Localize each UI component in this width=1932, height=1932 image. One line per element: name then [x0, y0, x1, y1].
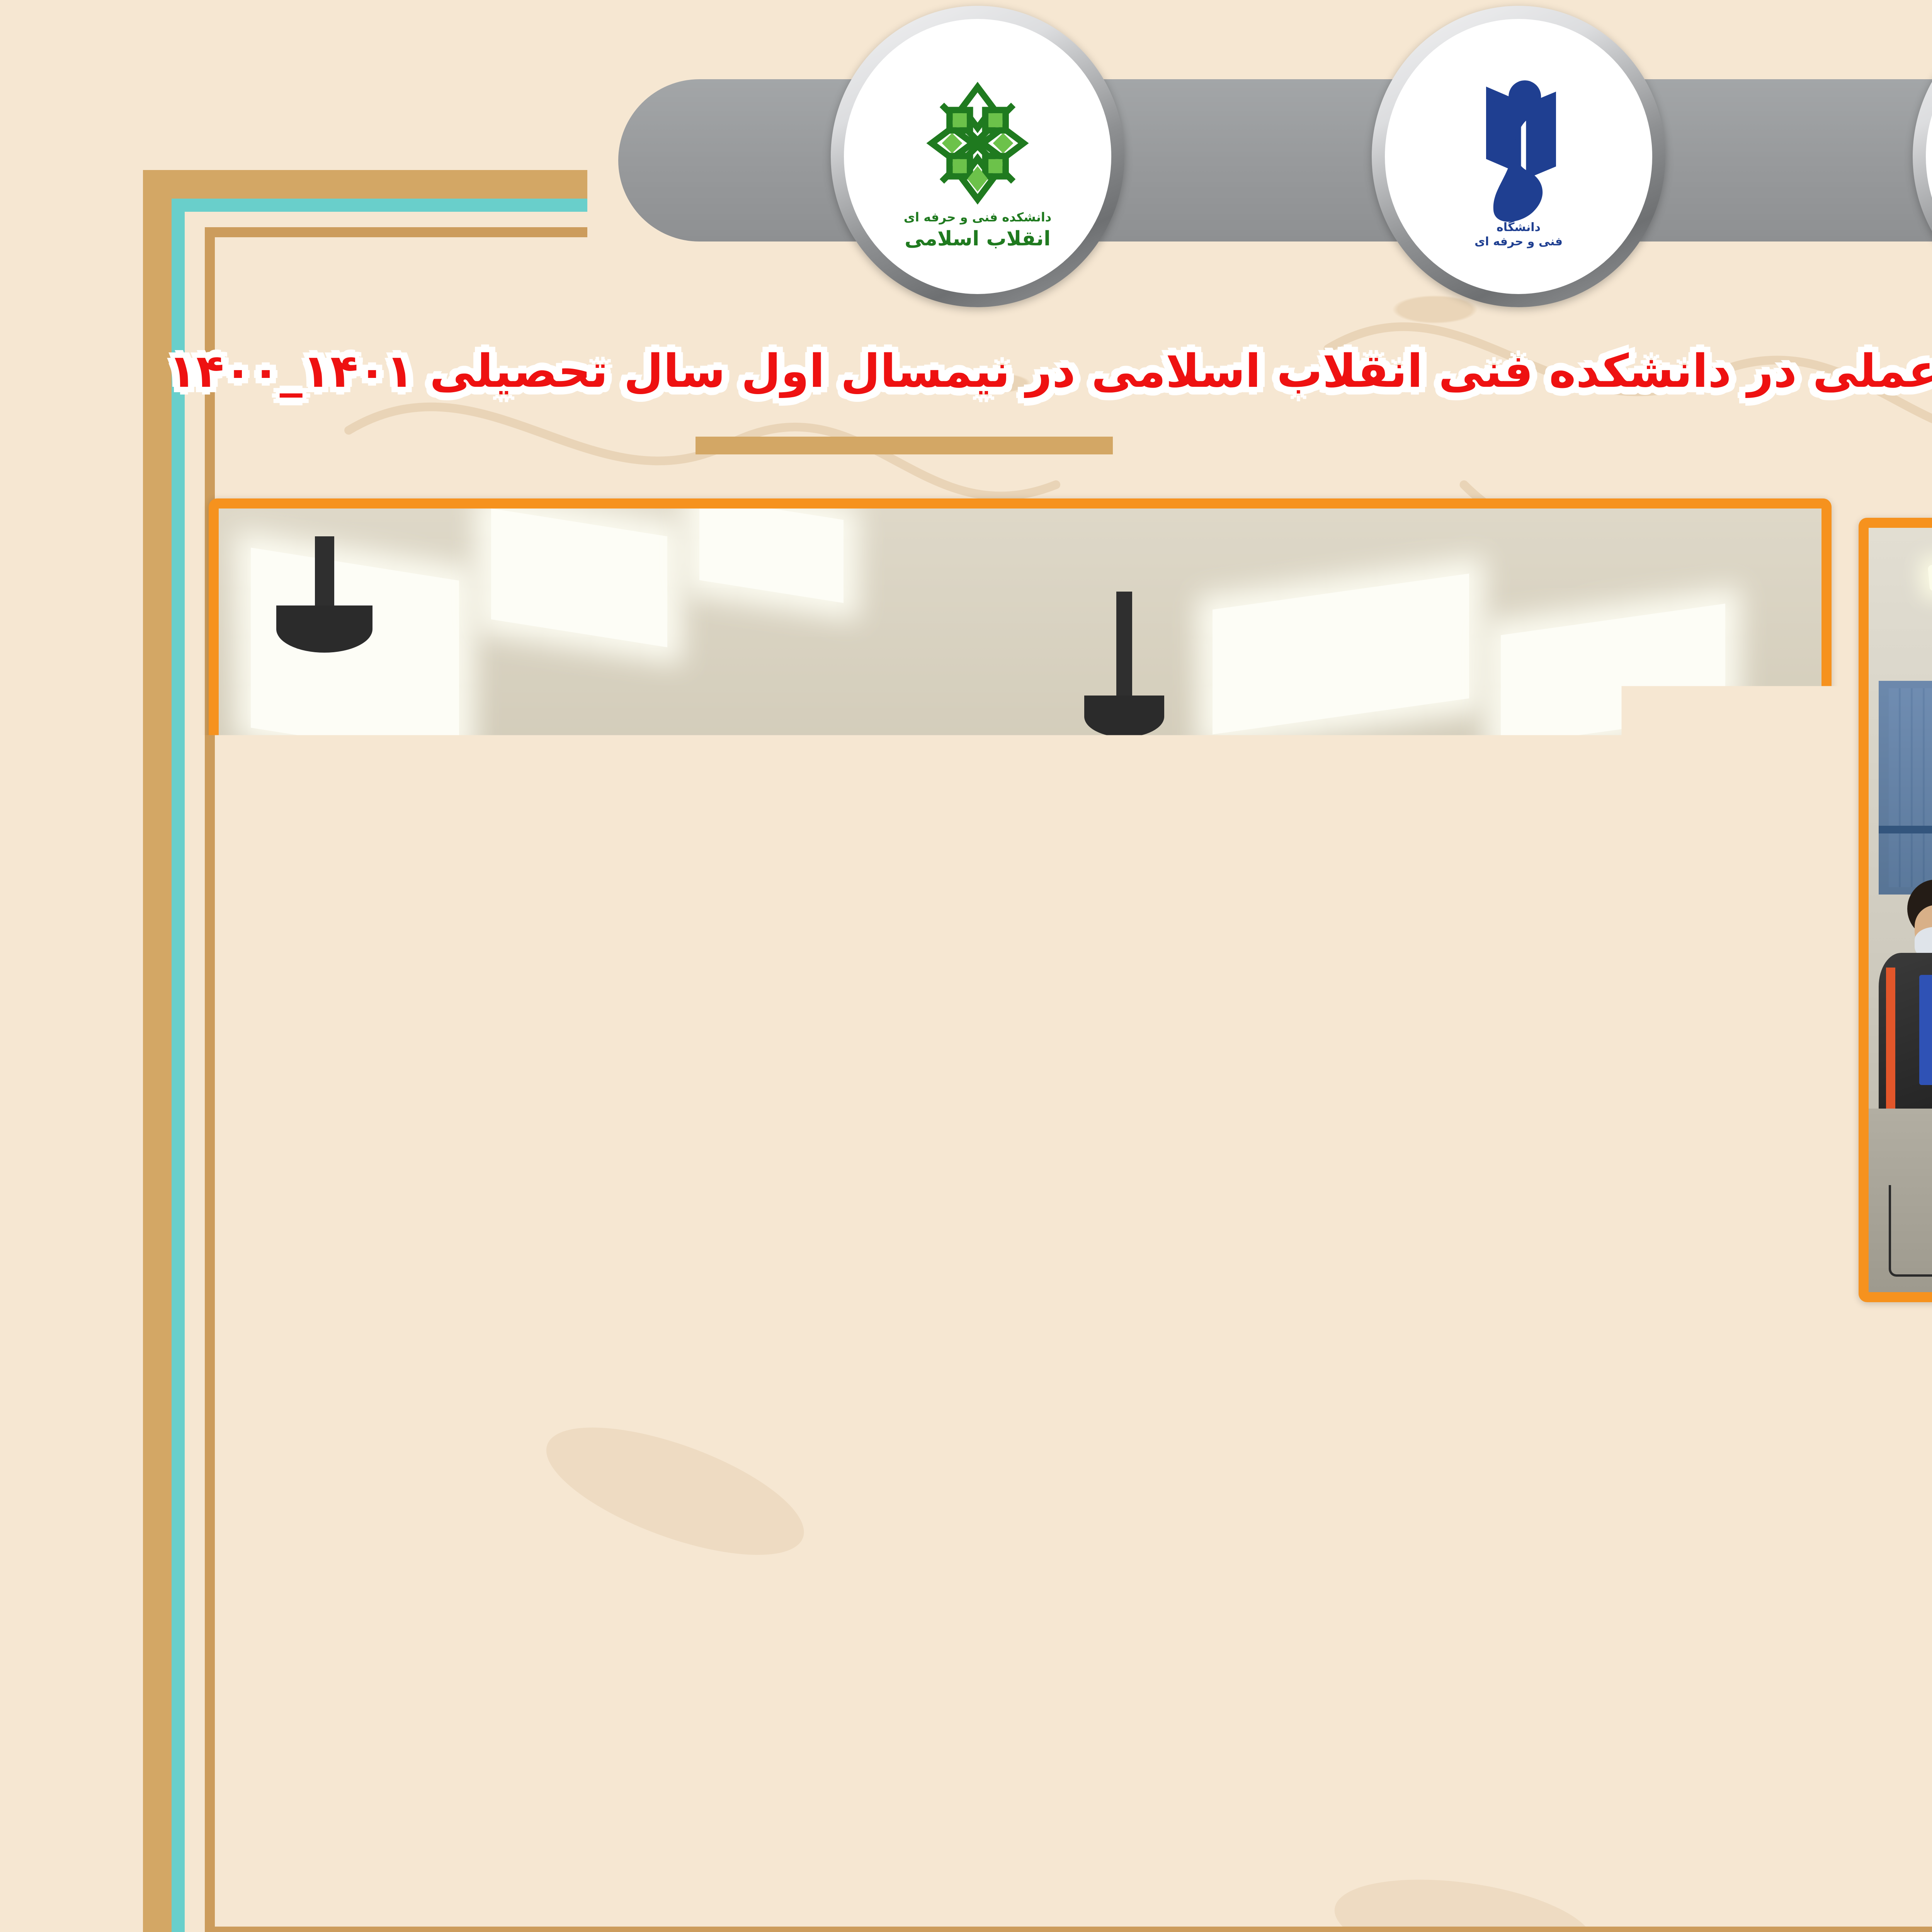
- frame-edge-right-teal: [1747, 410, 1760, 1754]
- lecture-desk-shelf: [1464, 1735, 1558, 1752]
- lecture-instructor: [1506, 1499, 1583, 1724]
- poster-canvas: دانشکده فنی و حرفه ای انقلاب اسلامی دانش…: [0, 0, 1932, 1932]
- student-hoodie: [910, 925, 1020, 1090]
- student-scarf: [964, 1607, 978, 1655]
- workshop-door: [230, 980, 438, 1230]
- lab-curtain: [1139, 673, 1219, 895]
- lecture-classroom-scene: [852, 1335, 1702, 1899]
- lab-classroom-scene: [709, 528, 1709, 1292]
- lab-stool: [1250, 971, 1310, 986]
- logo-vezarat-oloom: جمهوری اسلامی ایران وزارت علوم، تحقیقات …: [753, 6, 1047, 307]
- photo-workshop: KAWA: [0, 498, 672, 1905]
- workshop-wall-panel: [117, 924, 230, 1077]
- lecture-bag: [1456, 1606, 1515, 1628]
- workshop-scene: KAWA: [0, 509, 662, 1895]
- lecture-desk-tablet: [1447, 1707, 1541, 1727]
- frame-edge-bottom-inner: [0, 1927, 1349, 1932]
- workshop-wood-block: [37, 1243, 101, 1271]
- reading-figure-emblem-icon: [296, 64, 423, 226]
- lab-curtain-rod: [719, 826, 1379, 833]
- student-jacket: [946, 1604, 1029, 1732]
- lecture-red-jacket: [1328, 1645, 1405, 1724]
- lecture-desk-tablet: [1223, 1743, 1277, 1759]
- student-jacket-stripe: [727, 968, 736, 1114]
- instructor-hand: [1553, 823, 1567, 857]
- lab-curtain: [719, 681, 789, 895]
- workshop-bench-panel: [0, 1514, 470, 1721]
- iran-allah-emblem-icon: [844, 86, 956, 202]
- student-shirt: [760, 975, 801, 1085]
- logo-2-line2: فنی و حرفه ای: [315, 235, 403, 249]
- student-jacket: [1158, 1579, 1222, 1683]
- page-title: بازگشایی و آغاز تدریس حضوری کلاس های عمل…: [0, 344, 1764, 398]
- workshop-student-tan-coverall: [0, 938, 37, 1465]
- lab-stand-rod: [1174, 918, 1179, 986]
- lecture-projector: [1175, 1386, 1243, 1414]
- lecture-desk-tablet: [1430, 1662, 1515, 1682]
- logo-3-line2: وزارت علوم، تحقیقات و فناوری: [824, 223, 976, 237]
- student-jacket: [1031, 1595, 1105, 1713]
- title-container: بازگشایی و آغاز تدریس حضوری کلاس های عمل…: [0, 321, 1747, 421]
- lab-stool-legs: [730, 1185, 830, 1277]
- lab-tissue-box: [1189, 983, 1239, 1013]
- lecture-wall-conduit: [852, 1364, 1702, 1370]
- student-shirt: [855, 952, 888, 1070]
- student-shoe: [1270, 1813, 1292, 1841]
- photo-lab-classroom: [699, 518, 1719, 1302]
- student-shirt: [883, 1646, 914, 1728]
- lecture-screen-content: [1612, 1476, 1680, 1578]
- workshop-wood-block: [150, 1264, 197, 1286]
- instructor-hand: [1583, 1553, 1594, 1571]
- workshop-bench-bottom-rail: [0, 1722, 470, 1770]
- student-legs: [1038, 1710, 1100, 1817]
- lecture-laptop: [1396, 1583, 1456, 1623]
- lecture-student: [1158, 1538, 1235, 1696]
- lab-instructor: [1459, 742, 1560, 1170]
- lab-beaker: [1119, 994, 1143, 1017]
- lecture-camera-equipment: [1625, 1854, 1685, 1893]
- lab-stool: [1049, 963, 1109, 979]
- student-legs: [954, 1728, 1021, 1844]
- student-legs: [859, 1757, 932, 1883]
- student-legs: [1116, 1692, 1170, 1790]
- lecture-chair: [1209, 1848, 1294, 1899]
- photo-lecture-classroom: [842, 1325, 1712, 1909]
- workshop-blue-vise-small: [277, 1243, 366, 1306]
- logo-2-line1: دانشگاه: [337, 220, 381, 235]
- workshop-bench-top: [0, 1361, 534, 1465]
- workshop-fire-extinguisher: [454, 1035, 486, 1104]
- student-hand: [0, 1202, 43, 1270]
- frame-edge-right: [1760, 410, 1789, 1754]
- workshop-bench-leg: [438, 1458, 518, 1833]
- lab-tray: [1129, 1032, 1199, 1048]
- logo-daneshgah-fanni-herfei: دانشگاه فنی و حرفه ای: [213, 6, 506, 307]
- lab-stool-legs: [839, 1201, 929, 1285]
- logo-3-line1: جمهوری اسلامی ایران: [847, 206, 954, 221]
- logo-ring-inner: دانشگاه فنی و حرفه ای: [226, 19, 493, 294]
- lecture-desk-tablet: [1328, 1628, 1396, 1645]
- lab-curtain: [1310, 665, 1389, 895]
- lecture-backpack: [1243, 1628, 1294, 1668]
- header-gray-bar: [0, 79, 1260, 241]
- logo-ring-inner: جمهوری اسلامی ایران وزارت علوم، تحقیقات …: [767, 19, 1034, 294]
